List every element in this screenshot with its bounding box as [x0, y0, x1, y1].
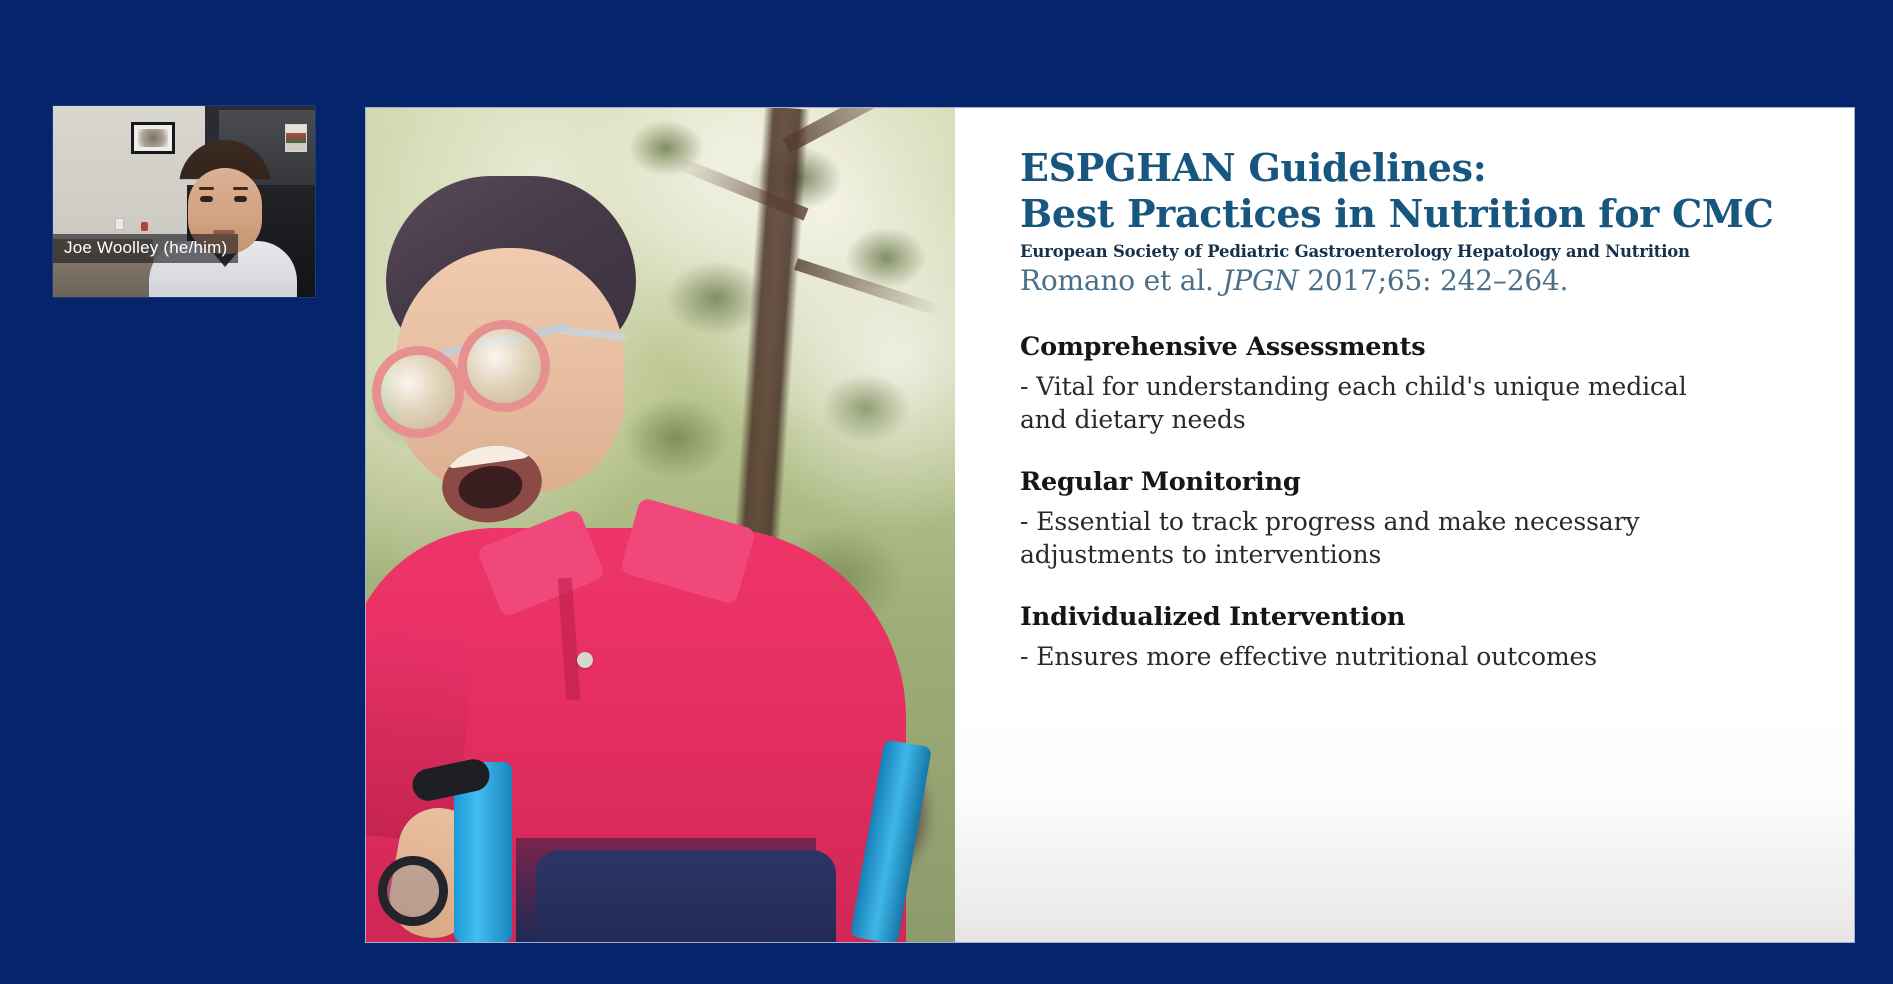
participant-eye-left: [200, 196, 213, 202]
participant-eye-right: [234, 196, 247, 202]
slide-citation: Romano et al. JPGN 2017;65: 242–264.: [1020, 264, 1806, 298]
photo-child-pants: [536, 850, 836, 942]
slide-text-panel: ESPGHAN Guidelines: Best Practices in Nu…: [955, 108, 1854, 942]
citation-volume-pages: 2017;65: 242–264.: [1299, 264, 1569, 297]
shared-slide[interactable]: ESPGHAN Guidelines: Best Practices in Nu…: [365, 107, 1855, 943]
video-background-outlet: [115, 218, 124, 230]
wall-art-image: [138, 129, 168, 147]
section-body: - Essential to track progress and make n…: [1020, 505, 1720, 571]
photo-bike-wheel: [378, 856, 448, 926]
participant-eyebrow-left: [199, 187, 214, 190]
section-heading: Individualized Intervention: [1020, 602, 1806, 633]
video-background-wall-art: [131, 122, 175, 154]
slide-subtitle: European Society of Pediatric Gastroente…: [1020, 242, 1806, 261]
section-body: - Vital for understanding each child's u…: [1020, 370, 1720, 436]
citation-journal: JPGN: [1222, 264, 1298, 297]
slide-title: ESPGHAN Guidelines: Best Practices in Nu…: [1020, 145, 1806, 237]
slide-title-line-1: ESPGHAN Guidelines:: [1020, 145, 1806, 191]
participant-video-tile[interactable]: Joe Woolley (he/him): [52, 105, 316, 298]
video-background-photo-frame: [285, 124, 307, 152]
photo-shirt-button: [577, 652, 593, 668]
slide-photo: [366, 108, 955, 942]
section-heading: Comprehensive Assessments: [1020, 332, 1806, 363]
citation-authors: Romano et al.: [1020, 264, 1222, 297]
photo-child-mouth-interior: [456, 462, 525, 512]
participant-video-feed: [53, 106, 315, 297]
slide-section-individualized-intervention: Individualized Intervention - Ensures mo…: [1020, 602, 1806, 673]
slide-title-line-2: Best Practices in Nutrition for CMC: [1020, 191, 1806, 237]
section-heading: Regular Monitoring: [1020, 467, 1806, 498]
participant-eyebrow-right: [233, 187, 248, 190]
slide-section-comprehensive-assessments: Comprehensive Assessments - Vital for un…: [1020, 332, 1806, 436]
video-background-object: [141, 222, 148, 231]
section-body: - Ensures more effective nutritional out…: [1020, 640, 1720, 673]
participant-name-badge: Joe Woolley (he/him): [53, 234, 238, 263]
slide-section-regular-monitoring: Regular Monitoring - Essential to track …: [1020, 467, 1806, 571]
meeting-stage: Joe Woolley (he/him): [0, 0, 1893, 984]
